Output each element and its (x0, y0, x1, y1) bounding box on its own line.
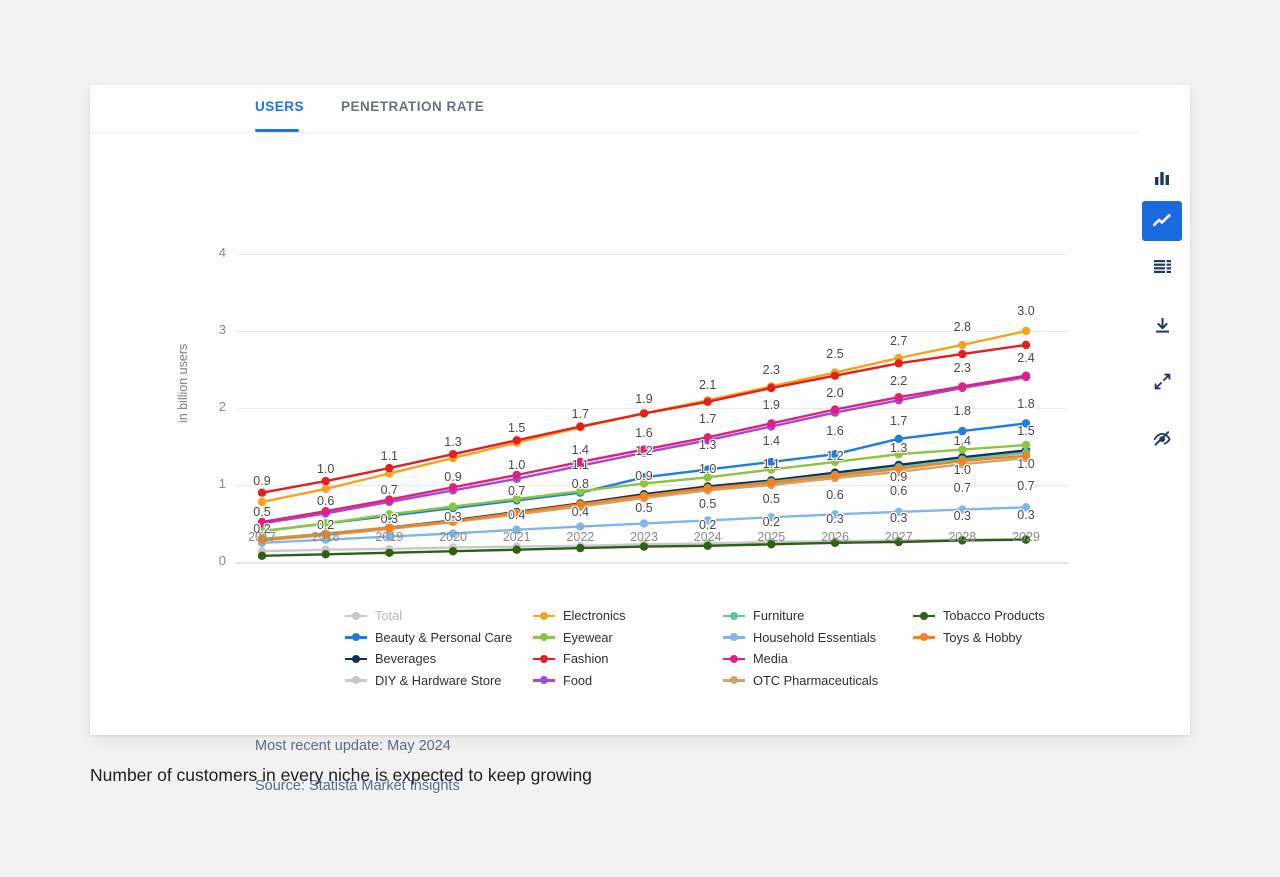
chart-legend: TotalElectronicsFurnitureTobacco Product… (345, 605, 1135, 691)
data-point[interactable] (640, 409, 648, 417)
series-layer (90, 133, 1150, 593)
data-point-label: 2.1 (699, 378, 716, 392)
data-point[interactable] (831, 372, 839, 380)
legend-marker-icon (533, 674, 555, 686)
legend-marker-icon (723, 610, 745, 622)
x-tick-label: 2018 (296, 530, 356, 544)
data-point-label: 0.3 (826, 512, 843, 526)
legend-item-beauty-personal-care[interactable]: Beauty & Personal Care (345, 627, 533, 649)
data-point-label: 1.2 (826, 449, 843, 463)
x-tick-label: 2027 (869, 530, 929, 544)
legend-label: Fashion (563, 651, 609, 666)
data-point-label: 0.6 (317, 494, 334, 508)
data-point-label: 1.6 (635, 426, 652, 440)
legend-item-household-essentials[interactable]: Household Essentials (723, 627, 913, 649)
data-point-label: 0.7 (381, 483, 398, 497)
data-point[interactable] (1022, 372, 1030, 380)
legend-marker-icon (533, 653, 555, 665)
chart-card: USERS PENETRATION RATE in billion users … (90, 85, 1190, 735)
legend-label: OTC Pharmaceuticals (753, 673, 878, 688)
data-point[interactable] (767, 384, 775, 392)
line-chart-icon[interactable] (1142, 201, 1182, 241)
data-point-label: 1.0 (699, 462, 716, 476)
tab-bar: USERS PENETRATION RATE (90, 85, 1138, 133)
data-point-label: 2.0 (826, 386, 843, 400)
data-point-label: 1.1 (763, 457, 780, 471)
data-point-label: 1.4 (572, 443, 589, 457)
legend-marker-icon (345, 631, 367, 643)
legend-item-otc-pharmaceuticals[interactable]: OTC Pharmaceuticals (723, 670, 913, 692)
legend-row: Beauty & Personal CareEyewearHousehold E… (345, 627, 1135, 649)
data-point-label: 0.3 (954, 509, 971, 523)
legend-spacer (913, 670, 1113, 692)
data-point[interactable] (449, 483, 457, 491)
data-point-label: 0.5 (635, 501, 652, 515)
y-tick-label: 4 (200, 245, 226, 260)
data-point[interactable] (258, 489, 266, 497)
data-point[interactable] (704, 484, 712, 492)
data-point-label: 0.5 (763, 492, 780, 506)
data-point-label: 0.9 (444, 470, 461, 484)
legend-label: Tobacco Products (943, 608, 1045, 623)
legend-marker-icon (345, 610, 367, 622)
data-point[interactable] (322, 485, 330, 493)
y-tick-label: 0 (200, 553, 226, 568)
data-point-label: 1.3 (699, 438, 716, 452)
legend-row: BeveragesFashionMedia (345, 648, 1135, 670)
data-point[interactable] (704, 398, 712, 406)
data-point[interactable] (958, 382, 966, 390)
data-point-label: 0.3 (890, 511, 907, 525)
legend-row: TotalElectronicsFurnitureTobacco Product… (345, 605, 1135, 627)
legend-spacer (913, 648, 1113, 670)
data-point[interactable] (1022, 441, 1030, 449)
legend-item-furniture[interactable]: Furniture (723, 605, 913, 627)
download-icon[interactable] (1142, 305, 1182, 345)
legend-item-food[interactable]: Food (533, 670, 723, 692)
table-icon[interactable] (1142, 247, 1182, 287)
data-point-label: 1.5 (508, 421, 525, 435)
data-point-label: 2.5 (826, 347, 843, 361)
x-tick-label: 2029 (996, 530, 1056, 544)
x-tick-label: 2022 (550, 530, 610, 544)
legend-item-toys-hobby[interactable]: Toys & Hobby (913, 627, 1113, 649)
data-point[interactable] (1022, 327, 1030, 335)
data-point-label: 1.0 (1017, 457, 1034, 471)
data-point-label: 0.9 (253, 474, 270, 488)
data-point[interactable] (895, 393, 903, 401)
data-point-label: 0.3 (381, 512, 398, 526)
data-point[interactable] (322, 550, 330, 558)
data-point-label: 3.0 (1017, 304, 1034, 318)
data-point-label: 0.3 (1017, 508, 1034, 522)
data-point[interactable] (385, 464, 393, 472)
legend-marker-icon (533, 631, 555, 643)
data-point[interactable] (576, 422, 584, 430)
legend-marker-icon (345, 674, 367, 686)
data-point[interactable] (449, 547, 457, 555)
legend-label: DIY & Hardware Store (375, 673, 501, 688)
legend-label: Beverages (375, 651, 436, 666)
data-point-label: 1.3 (890, 441, 907, 455)
legend-item-eyewear[interactable]: Eyewear (533, 627, 723, 649)
data-point[interactable] (958, 350, 966, 358)
data-point-label: 0.5 (253, 505, 270, 519)
x-tick-label: 2019 (359, 530, 419, 544)
legend-label: Furniture (753, 608, 804, 623)
data-point-label: 1.0 (508, 458, 525, 472)
legend-label: Media (753, 651, 788, 666)
legend-item-electronics[interactable]: Electronics (533, 605, 723, 627)
legend-label: Eyewear (563, 630, 613, 645)
legend-item-fashion[interactable]: Fashion (533, 648, 723, 670)
data-point-label: 0.9 (890, 470, 907, 484)
data-point-label: 1.0 (317, 462, 334, 476)
data-point-label: 2.8 (954, 320, 971, 334)
legend-item-beverages[interactable]: Beverages (345, 648, 533, 670)
legend-marker-icon (533, 610, 555, 622)
x-tick-label: 2028 (932, 530, 992, 544)
y-tick-label: 3 (200, 322, 226, 337)
data-point-label: 1.5 (1017, 424, 1034, 438)
data-point-label: 1.9 (763, 398, 780, 412)
data-point-label: 0.2 (763, 515, 780, 529)
hide-icon[interactable] (1142, 418, 1182, 458)
legend-marker-icon (723, 631, 745, 643)
data-point-label: 2.4 (1017, 351, 1034, 365)
data-point-label: 1.3 (444, 435, 461, 449)
data-point-label: 0.7 (1017, 479, 1034, 493)
data-point-label: 1.2 (635, 444, 652, 458)
legend-item-diy-hardware-store[interactable]: DIY & Hardware Store (345, 670, 533, 692)
x-tick-label: 2023 (614, 530, 674, 544)
data-point-label: 1.4 (763, 434, 780, 448)
figure-caption: Number of customers in every niche is ex… (90, 765, 592, 786)
x-tick-label: 2020 (423, 530, 483, 544)
data-point-label: 1.1 (572, 458, 589, 472)
data-point-label: 1.7 (890, 414, 907, 428)
data-point-label: 0.3 (444, 510, 461, 524)
data-point-label: 1.8 (1017, 397, 1034, 411)
data-point-label: 0.7 (954, 481, 971, 495)
legend-label: Beauty & Personal Care (375, 630, 512, 645)
data-point[interactable] (831, 405, 839, 413)
data-point[interactable] (1022, 341, 1030, 349)
legend-label: Household Essentials (753, 630, 876, 645)
legend-marker-icon (913, 631, 935, 643)
legend-item-media[interactable]: Media (723, 648, 913, 670)
data-point[interactable] (895, 359, 903, 367)
data-point-label: 1.9 (635, 392, 652, 406)
data-point-label: 0.6 (890, 484, 907, 498)
bar-chart-icon[interactable] (1142, 157, 1182, 197)
last-update-text: Most recent update: May 2024 (255, 738, 451, 754)
data-point-label: 2.7 (890, 334, 907, 348)
data-point[interactable] (385, 549, 393, 557)
legend-item-total[interactable]: Total (345, 605, 533, 627)
data-point[interactable] (767, 479, 775, 487)
data-point-label: 0.7 (508, 484, 525, 498)
data-point-label: 0.9 (635, 469, 652, 483)
data-point[interactable] (831, 472, 839, 480)
data-point-label: 0.5 (699, 497, 716, 511)
x-tick-label: 2017 (232, 530, 292, 544)
data-point[interactable] (640, 492, 648, 500)
data-point-label: 0.4 (572, 505, 589, 519)
data-point-label: 1.6 (826, 424, 843, 438)
legend-label: Food (563, 673, 592, 688)
legend-marker-icon (723, 674, 745, 686)
data-point[interactable] (449, 450, 457, 458)
data-point-label: 1.8 (954, 404, 971, 418)
data-point-label: 2.3 (763, 363, 780, 377)
x-tick-label: 2025 (741, 530, 801, 544)
data-point-label: 1.0 (954, 463, 971, 477)
data-point[interactable] (258, 552, 266, 560)
legend-marker-icon (913, 610, 935, 622)
data-point-label: 1.1 (381, 449, 398, 463)
data-point[interactable] (576, 544, 584, 552)
tab-users[interactable]: USERS (255, 99, 304, 114)
legend-item-tobacco-products[interactable]: Tobacco Products (913, 605, 1113, 627)
data-point-label: 0.4 (508, 508, 525, 522)
data-point-label: 2.3 (954, 361, 971, 375)
data-point-label: 1.7 (572, 407, 589, 421)
legend-marker-icon (345, 653, 367, 665)
y-tick-label: 1 (200, 476, 226, 491)
tab-active-underline (255, 129, 299, 132)
legend-marker-icon (723, 653, 745, 665)
data-point[interactable] (767, 419, 775, 427)
legend-label: Electronics (563, 608, 626, 623)
data-point-label: 0.8 (572, 477, 589, 491)
legend-row: DIY & Hardware StoreFoodOTC Pharmaceutic… (345, 670, 1135, 692)
data-point[interactable] (958, 341, 966, 349)
data-point-label: 1.7 (699, 412, 716, 426)
x-tick-label: 2026 (805, 530, 865, 544)
y-tick-label: 2 (200, 399, 226, 414)
data-point[interactable] (322, 477, 330, 485)
data-point-label: 2.2 (890, 374, 907, 388)
legend-label: Toys & Hobby (943, 630, 1022, 645)
x-tick-label: 2024 (678, 530, 738, 544)
legend-label: Total (375, 608, 402, 623)
chart-plot-area: in billion users 0.90.50.21.00.60.21.10.… (90, 133, 1150, 593)
data-point[interactable] (640, 519, 648, 527)
data-point[interactable] (513, 436, 521, 444)
data-point[interactable] (513, 546, 521, 554)
data-point-label: 1.4 (954, 434, 971, 448)
x-tick-label: 2021 (487, 530, 547, 544)
expand-icon[interactable] (1142, 361, 1182, 401)
data-point-label: 0.6 (826, 488, 843, 502)
page-root: USERS PENETRATION RATE in billion users … (0, 0, 1280, 877)
tab-penetration-rate[interactable]: PENETRATION RATE (341, 99, 484, 114)
